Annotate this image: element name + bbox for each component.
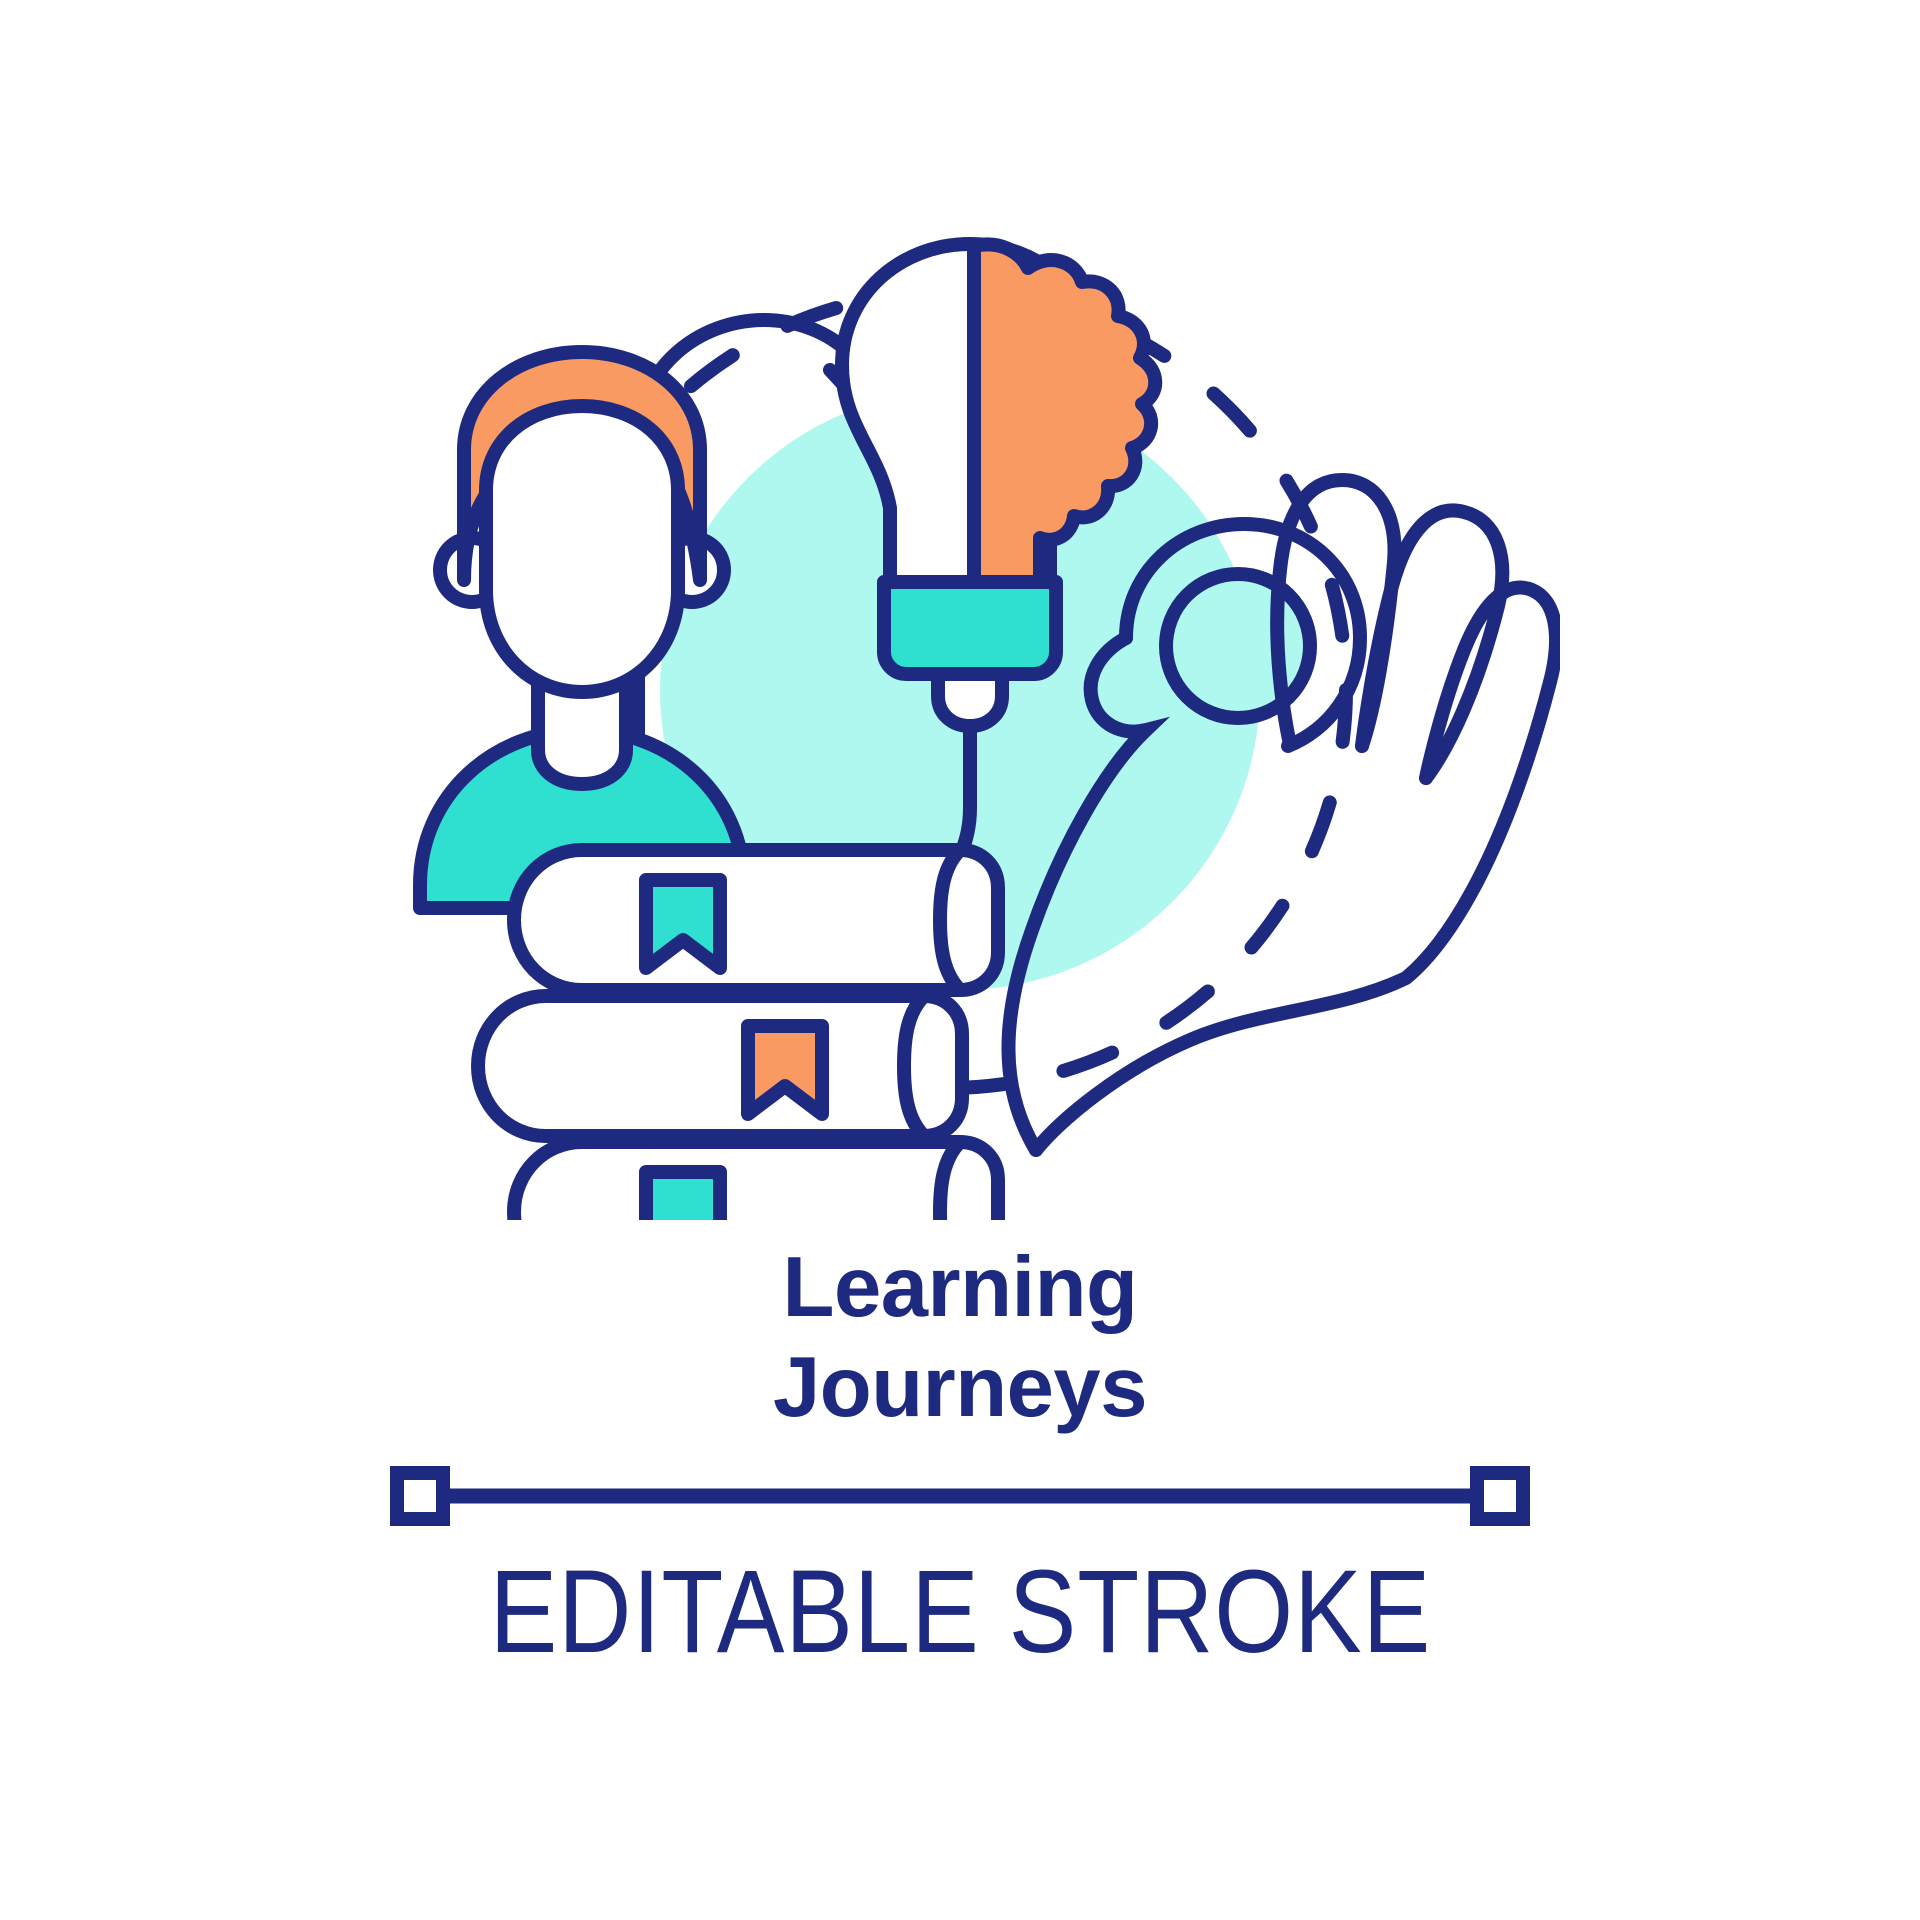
editable-stroke-caption-wrap: EDITABLE STROKE bbox=[0, 1548, 1920, 1676]
learning-journeys-illustration bbox=[360, 190, 1560, 1220]
book-top-body bbox=[514, 850, 998, 990]
ruler-handle-left[interactable] bbox=[397, 1473, 443, 1519]
illustration-canvas bbox=[360, 190, 1560, 1220]
book-bottom bbox=[514, 1142, 998, 1220]
page-title-line-1: Learning bbox=[0, 1238, 1920, 1338]
stroke-width-ruler bbox=[390, 1466, 1530, 1526]
book-top bbox=[514, 850, 998, 990]
book-middle-body bbox=[478, 996, 962, 1136]
ruler-handle-right[interactable] bbox=[1477, 1473, 1523, 1519]
book-middle bbox=[478, 996, 962, 1136]
concept-icon-page: Learning Journeys EDITABLE STROKE bbox=[0, 0, 1920, 1920]
lightbulb-base bbox=[884, 582, 1056, 674]
book-bottom-body bbox=[514, 1142, 998, 1220]
stroke-ruler-graphic bbox=[390, 1466, 1530, 1526]
page-title-line-2: Journeys bbox=[0, 1338, 1920, 1438]
page-title: Learning Journeys bbox=[0, 1238, 1920, 1438]
book-stack bbox=[478, 850, 998, 1220]
lightbulb-tip bbox=[938, 674, 1002, 726]
editable-stroke-caption: EDITABLE STROKE bbox=[489, 1548, 1430, 1676]
person-face bbox=[486, 406, 678, 692]
book-bottom-bookmark bbox=[646, 1172, 720, 1220]
